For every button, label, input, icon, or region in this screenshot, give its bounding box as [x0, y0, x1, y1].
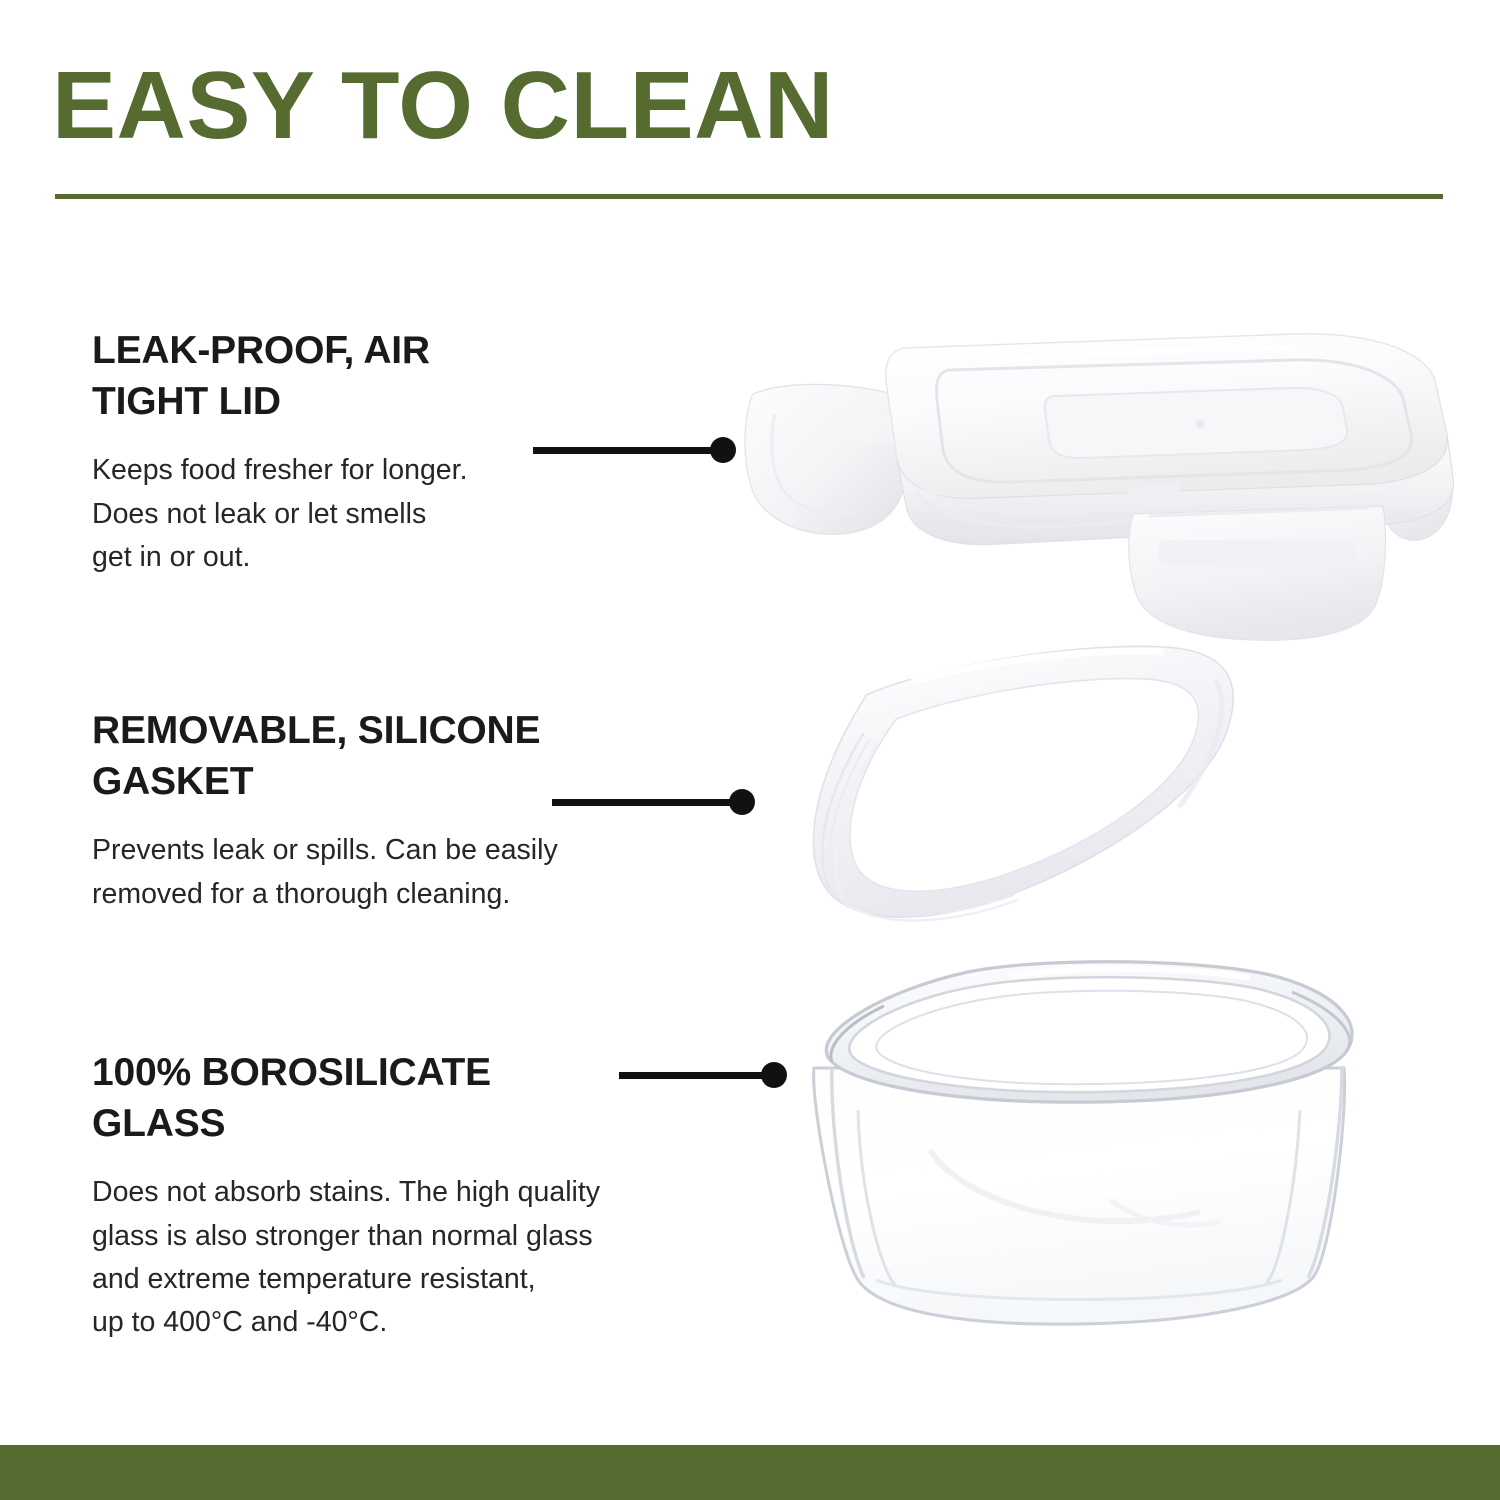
- feature-block-leak-proof-lid: LEAK-PROOF, AIR TIGHT LID Keeps food fre…: [92, 326, 562, 579]
- title-divider: [55, 194, 1443, 199]
- bottom-accent-bar: [0, 1445, 1500, 1500]
- product-image-silicone-gasket: [775, 640, 1275, 930]
- feature-heading-silicone-gasket: REMOVABLE, SILICONE GASKET: [92, 706, 692, 807]
- feature-heading-borosilicate-glass: 100% BOROSILICATE GLASS: [92, 1048, 692, 1149]
- gasket-ring: [793, 640, 1256, 930]
- feature-block-borosilicate-glass: 100% BOROSILICATE GLASS Does not absorb …: [92, 1048, 692, 1345]
- feature-body-leak-proof-lid: Keeps food fresher for longer. Does not …: [92, 449, 562, 579]
- connector-dot-lid: [710, 437, 736, 463]
- infographic-page: EASY TO CLEAN LEAK-PROOF, AIR TIGHT LID …: [0, 0, 1500, 1500]
- lid-center-panel: [1045, 388, 1347, 458]
- product-image-airtight-lid: [735, 318, 1475, 658]
- feature-block-silicone-gasket: REMOVABLE, SILICONE GASKET Prevents leak…: [92, 706, 692, 916]
- connector-line-gasket: [552, 799, 742, 806]
- feature-heading-leak-proof-lid: LEAK-PROOF, AIR TIGHT LID: [92, 326, 562, 427]
- product-image-glass-container: [780, 950, 1420, 1350]
- page-title: EASY TO CLEAN: [52, 58, 834, 154]
- lid-clip-rear: [1127, 484, 1181, 504]
- connector-line-lid: [533, 447, 723, 454]
- connector-dot-gasket: [729, 789, 755, 815]
- feature-body-borosilicate-glass: Does not absorb stains. The high quality…: [92, 1171, 692, 1344]
- connector-line-glass: [619, 1072, 774, 1079]
- lid-clip-front: [1129, 506, 1385, 640]
- feature-body-silicone-gasket: Prevents leak or spills. Can be easily r…: [92, 829, 692, 916]
